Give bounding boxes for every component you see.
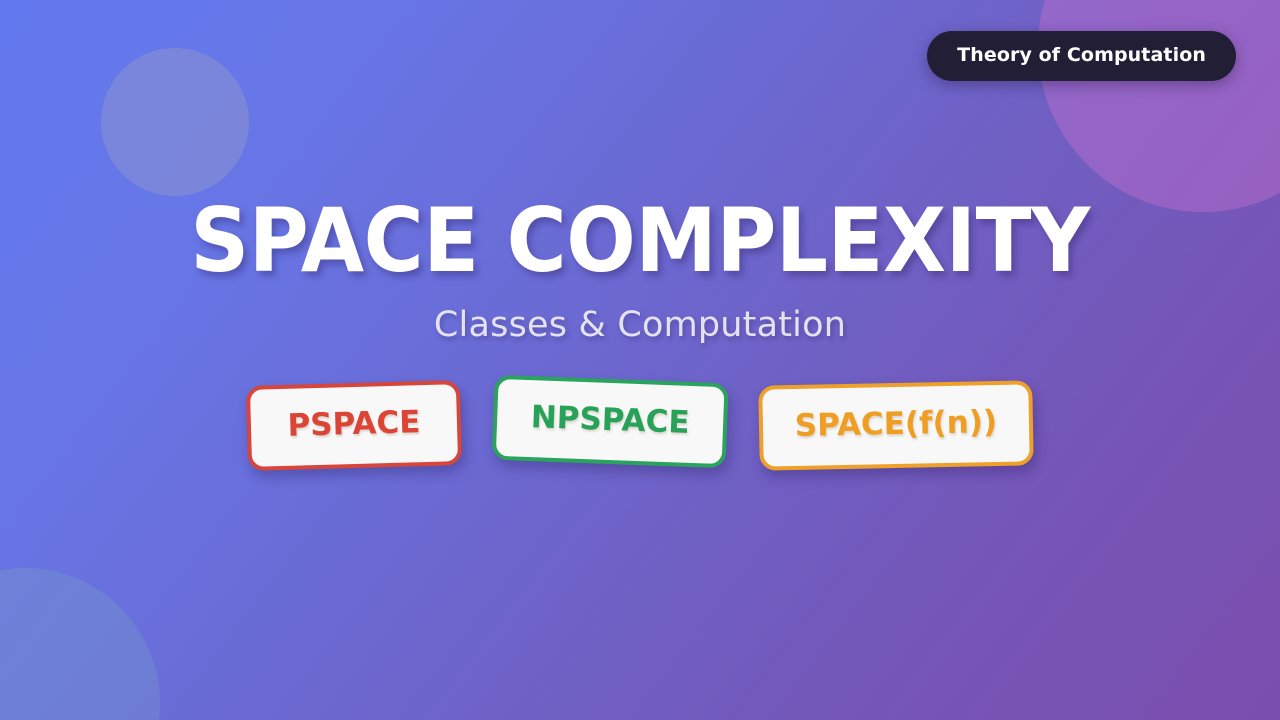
presentation-slide: Theory of Computation SPACE COMPLEXITY C… [0,0,1280,720]
complexity-class-chip-group: PSPACE NPSPACE SPACE(f(n)) [0,383,1280,468]
chip-pspace: PSPACE [246,380,462,471]
decorative-circle-bottom-left [0,568,160,720]
slide-content: SPACE COMPLEXITY Classes & Computation P… [0,196,1280,468]
decorative-circle-top-left [101,48,249,196]
chip-npspace: NPSPACE [492,374,729,468]
slide-subtitle: Classes & Computation [0,308,1280,343]
slide-title: SPACE COMPLEXITY [45,196,1235,286]
topic-badge: Theory of Computation [927,31,1236,81]
chip-space-f-n: SPACE(f(n)) [758,380,1034,470]
